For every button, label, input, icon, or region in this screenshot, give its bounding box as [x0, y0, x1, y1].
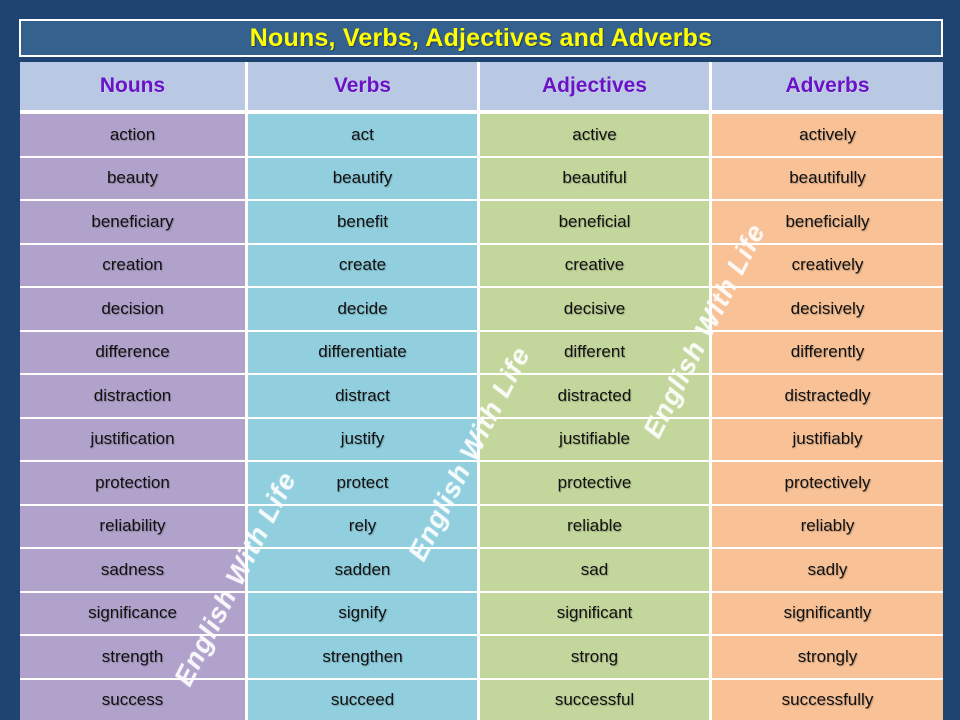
table-cell-verb: decide: [248, 288, 480, 332]
table-row: reliabilityrelyreliablereliably: [20, 506, 943, 550]
column-header-nouns[interactable]: Nouns: [20, 62, 248, 114]
table-cell-adverb: justifiably: [712, 419, 943, 463]
table-cell-noun: distraction: [20, 375, 248, 419]
slide-title-bar: Nouns, Verbs, Adjectives and Adverbs: [19, 19, 943, 57]
table-row: differencedifferentiatedifferentdifferen…: [20, 332, 943, 376]
table-cell-adjective: beneficial: [480, 201, 712, 245]
table-cell-adverb: protectively: [712, 462, 943, 506]
table-cell-verb: justify: [248, 419, 480, 463]
table-cell-noun: justification: [20, 419, 248, 463]
table-cell-noun: success: [20, 680, 248, 720]
table-cell-noun: action: [20, 114, 248, 158]
table-cell-verb: succeed: [248, 680, 480, 720]
table-row: strengthstrengthenstrongstrongly: [20, 636, 943, 680]
page-title: Nouns, Verbs, Adjectives and Adverbs: [250, 24, 712, 53]
table-cell-adverb: differently: [712, 332, 943, 376]
table-cell-verb: protect: [248, 462, 480, 506]
table-row: significancesignifysignificantsignifican…: [20, 593, 943, 637]
table-cell-verb: benefit: [248, 201, 480, 245]
column-header-adjectives[interactable]: Adjectives: [480, 62, 712, 114]
table-cell-adjective: distracted: [480, 375, 712, 419]
table-cell-adjective: different: [480, 332, 712, 376]
table-row: beautybeautifybeautifulbeautifully: [20, 158, 943, 202]
table-cell-adverb: sadly: [712, 549, 943, 593]
column-header-verbs[interactable]: Verbs: [248, 62, 480, 114]
table-cell-verb: act: [248, 114, 480, 158]
table-cell-noun: significance: [20, 593, 248, 637]
table-cell-adverb: decisively: [712, 288, 943, 332]
table-row: beneficiarybenefitbeneficialbeneficially: [20, 201, 943, 245]
slide-canvas: Nouns, Verbs, Adjectives and Adverbs Nou…: [0, 0, 960, 720]
table-cell-adjective: reliable: [480, 506, 712, 550]
table-cell-adjective: significant: [480, 593, 712, 637]
table-header-row: Nouns Verbs Adjectives Adverbs: [20, 62, 943, 114]
table-body: actionactactiveactivelybeautybeautifybea…: [20, 114, 943, 720]
table-cell-verb: differentiate: [248, 332, 480, 376]
table-cell-verb: distract: [248, 375, 480, 419]
table-cell-adjective: sad: [480, 549, 712, 593]
table-row: protectionprotectprotectiveprotectively: [20, 462, 943, 506]
table-cell-noun: reliability: [20, 506, 248, 550]
table-cell-adverb: successfully: [712, 680, 943, 720]
table-cell-adverb: creatively: [712, 245, 943, 289]
table-cell-adjective: creative: [480, 245, 712, 289]
table-cell-adverb: strongly: [712, 636, 943, 680]
table-cell-adjective: beautiful: [480, 158, 712, 202]
table-row: justificationjustifyjustifiablejustifiab…: [20, 419, 943, 463]
table-cell-adverb: reliably: [712, 506, 943, 550]
table-cell-verb: rely: [248, 506, 480, 550]
table-cell-verb: signify: [248, 593, 480, 637]
table-cell-adverb: significantly: [712, 593, 943, 637]
column-header-adverbs[interactable]: Adverbs: [712, 62, 943, 114]
table-row: distractiondistractdistracteddistractedl…: [20, 375, 943, 419]
table-cell-noun: beneficiary: [20, 201, 248, 245]
table-row: sadnesssaddensadsadly: [20, 549, 943, 593]
table-cell-verb: create: [248, 245, 480, 289]
table-cell-adjective: successful: [480, 680, 712, 720]
table-row: actionactactiveactively: [20, 114, 943, 158]
table-cell-noun: difference: [20, 332, 248, 376]
table-cell-verb: beautify: [248, 158, 480, 202]
table-cell-adjective: decisive: [480, 288, 712, 332]
table-cell-noun: strength: [20, 636, 248, 680]
table-cell-adverb: actively: [712, 114, 943, 158]
table-cell-adjective: justifiable: [480, 419, 712, 463]
table-cell-noun: beauty: [20, 158, 248, 202]
table-cell-noun: sadness: [20, 549, 248, 593]
table-cell-adverb: beautifully: [712, 158, 943, 202]
table-row: creationcreatecreativecreatively: [20, 245, 943, 289]
table-row: successsucceedsuccessfulsuccessfully: [20, 680, 943, 720]
table-cell-adjective: protective: [480, 462, 712, 506]
table-cell-adverb: distractedly: [712, 375, 943, 419]
table-cell-verb: strengthen: [248, 636, 480, 680]
word-forms-table: Nouns Verbs Adjectives Adverbs actionact…: [20, 62, 943, 720]
table-cell-adjective: strong: [480, 636, 712, 680]
table-cell-noun: protection: [20, 462, 248, 506]
table-cell-noun: creation: [20, 245, 248, 289]
table-cell-adverb: beneficially: [712, 201, 943, 245]
table-cell-noun: decision: [20, 288, 248, 332]
table-row: decisiondecidedecisivedecisively: [20, 288, 943, 332]
table-cell-verb: sadden: [248, 549, 480, 593]
table-cell-adjective: active: [480, 114, 712, 158]
